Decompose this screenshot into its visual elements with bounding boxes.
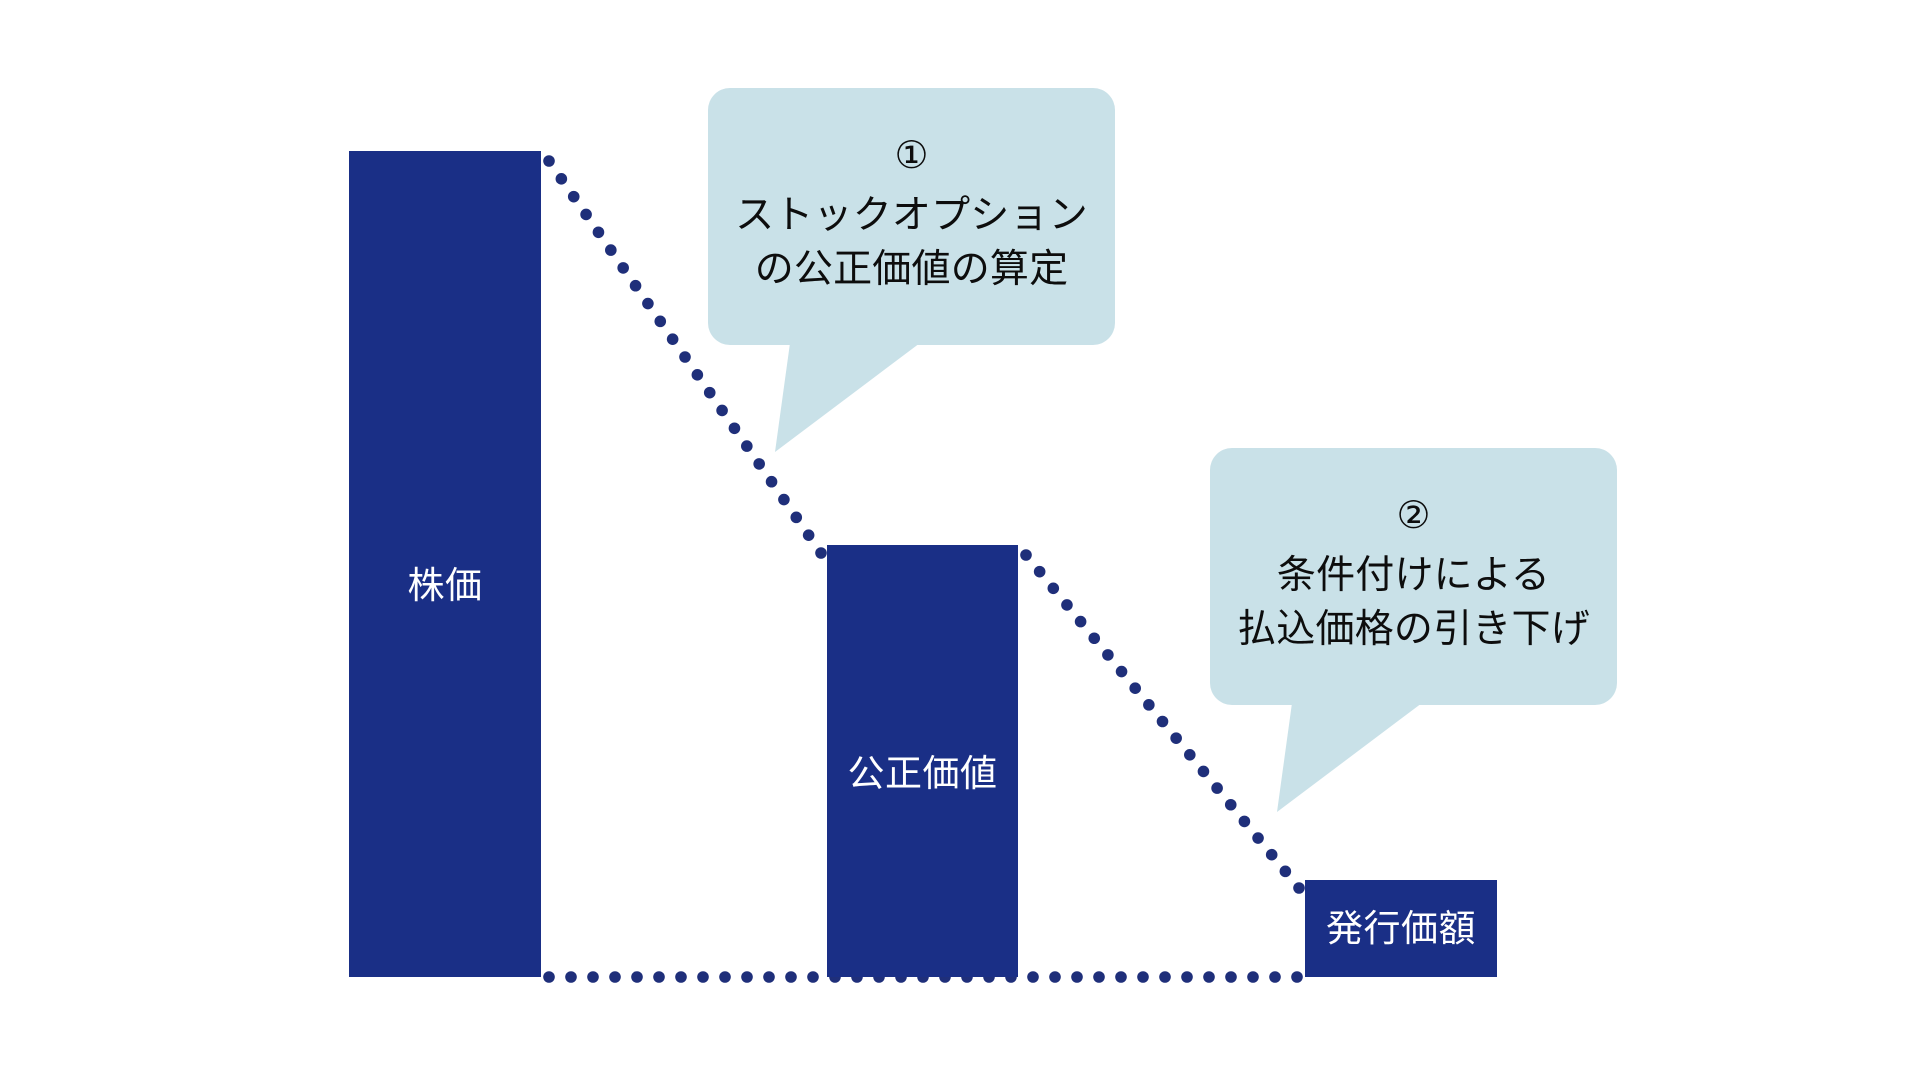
callout-text-1: ストックオプション の公正価値の算定 xyxy=(735,189,1088,297)
callout-number-1: ① xyxy=(894,137,928,175)
callout-tail-2 xyxy=(1273,703,1426,816)
callout-text-2: 条件付けによる 払込価格の引き下げ xyxy=(1237,549,1590,657)
bar-issue-price: 発行価額 xyxy=(1305,880,1497,977)
callout-payment-price-reduction: ② 条件付けによる 払込価格の引き下げ xyxy=(1210,448,1617,705)
diagram-canvas: 株価 公正価値 発行価額 ① ストックオプション の公正価値の算定 ② 条件付け… xyxy=(0,0,1920,1080)
callout-number-2: ② xyxy=(1396,497,1430,535)
bar-label-issue-price: 発行価額 xyxy=(1305,909,1497,950)
bar-stock-price: 株価 xyxy=(349,151,541,977)
bar-label-stock-price: 株価 xyxy=(349,566,541,607)
bar-fair-value: 公正価値 xyxy=(827,545,1018,977)
callout-fair-value-calculation: ① ストックオプション の公正価値の算定 xyxy=(708,88,1115,345)
bar-label-fair-value: 公正価値 xyxy=(827,754,1018,795)
callout-tail-1 xyxy=(771,343,924,456)
